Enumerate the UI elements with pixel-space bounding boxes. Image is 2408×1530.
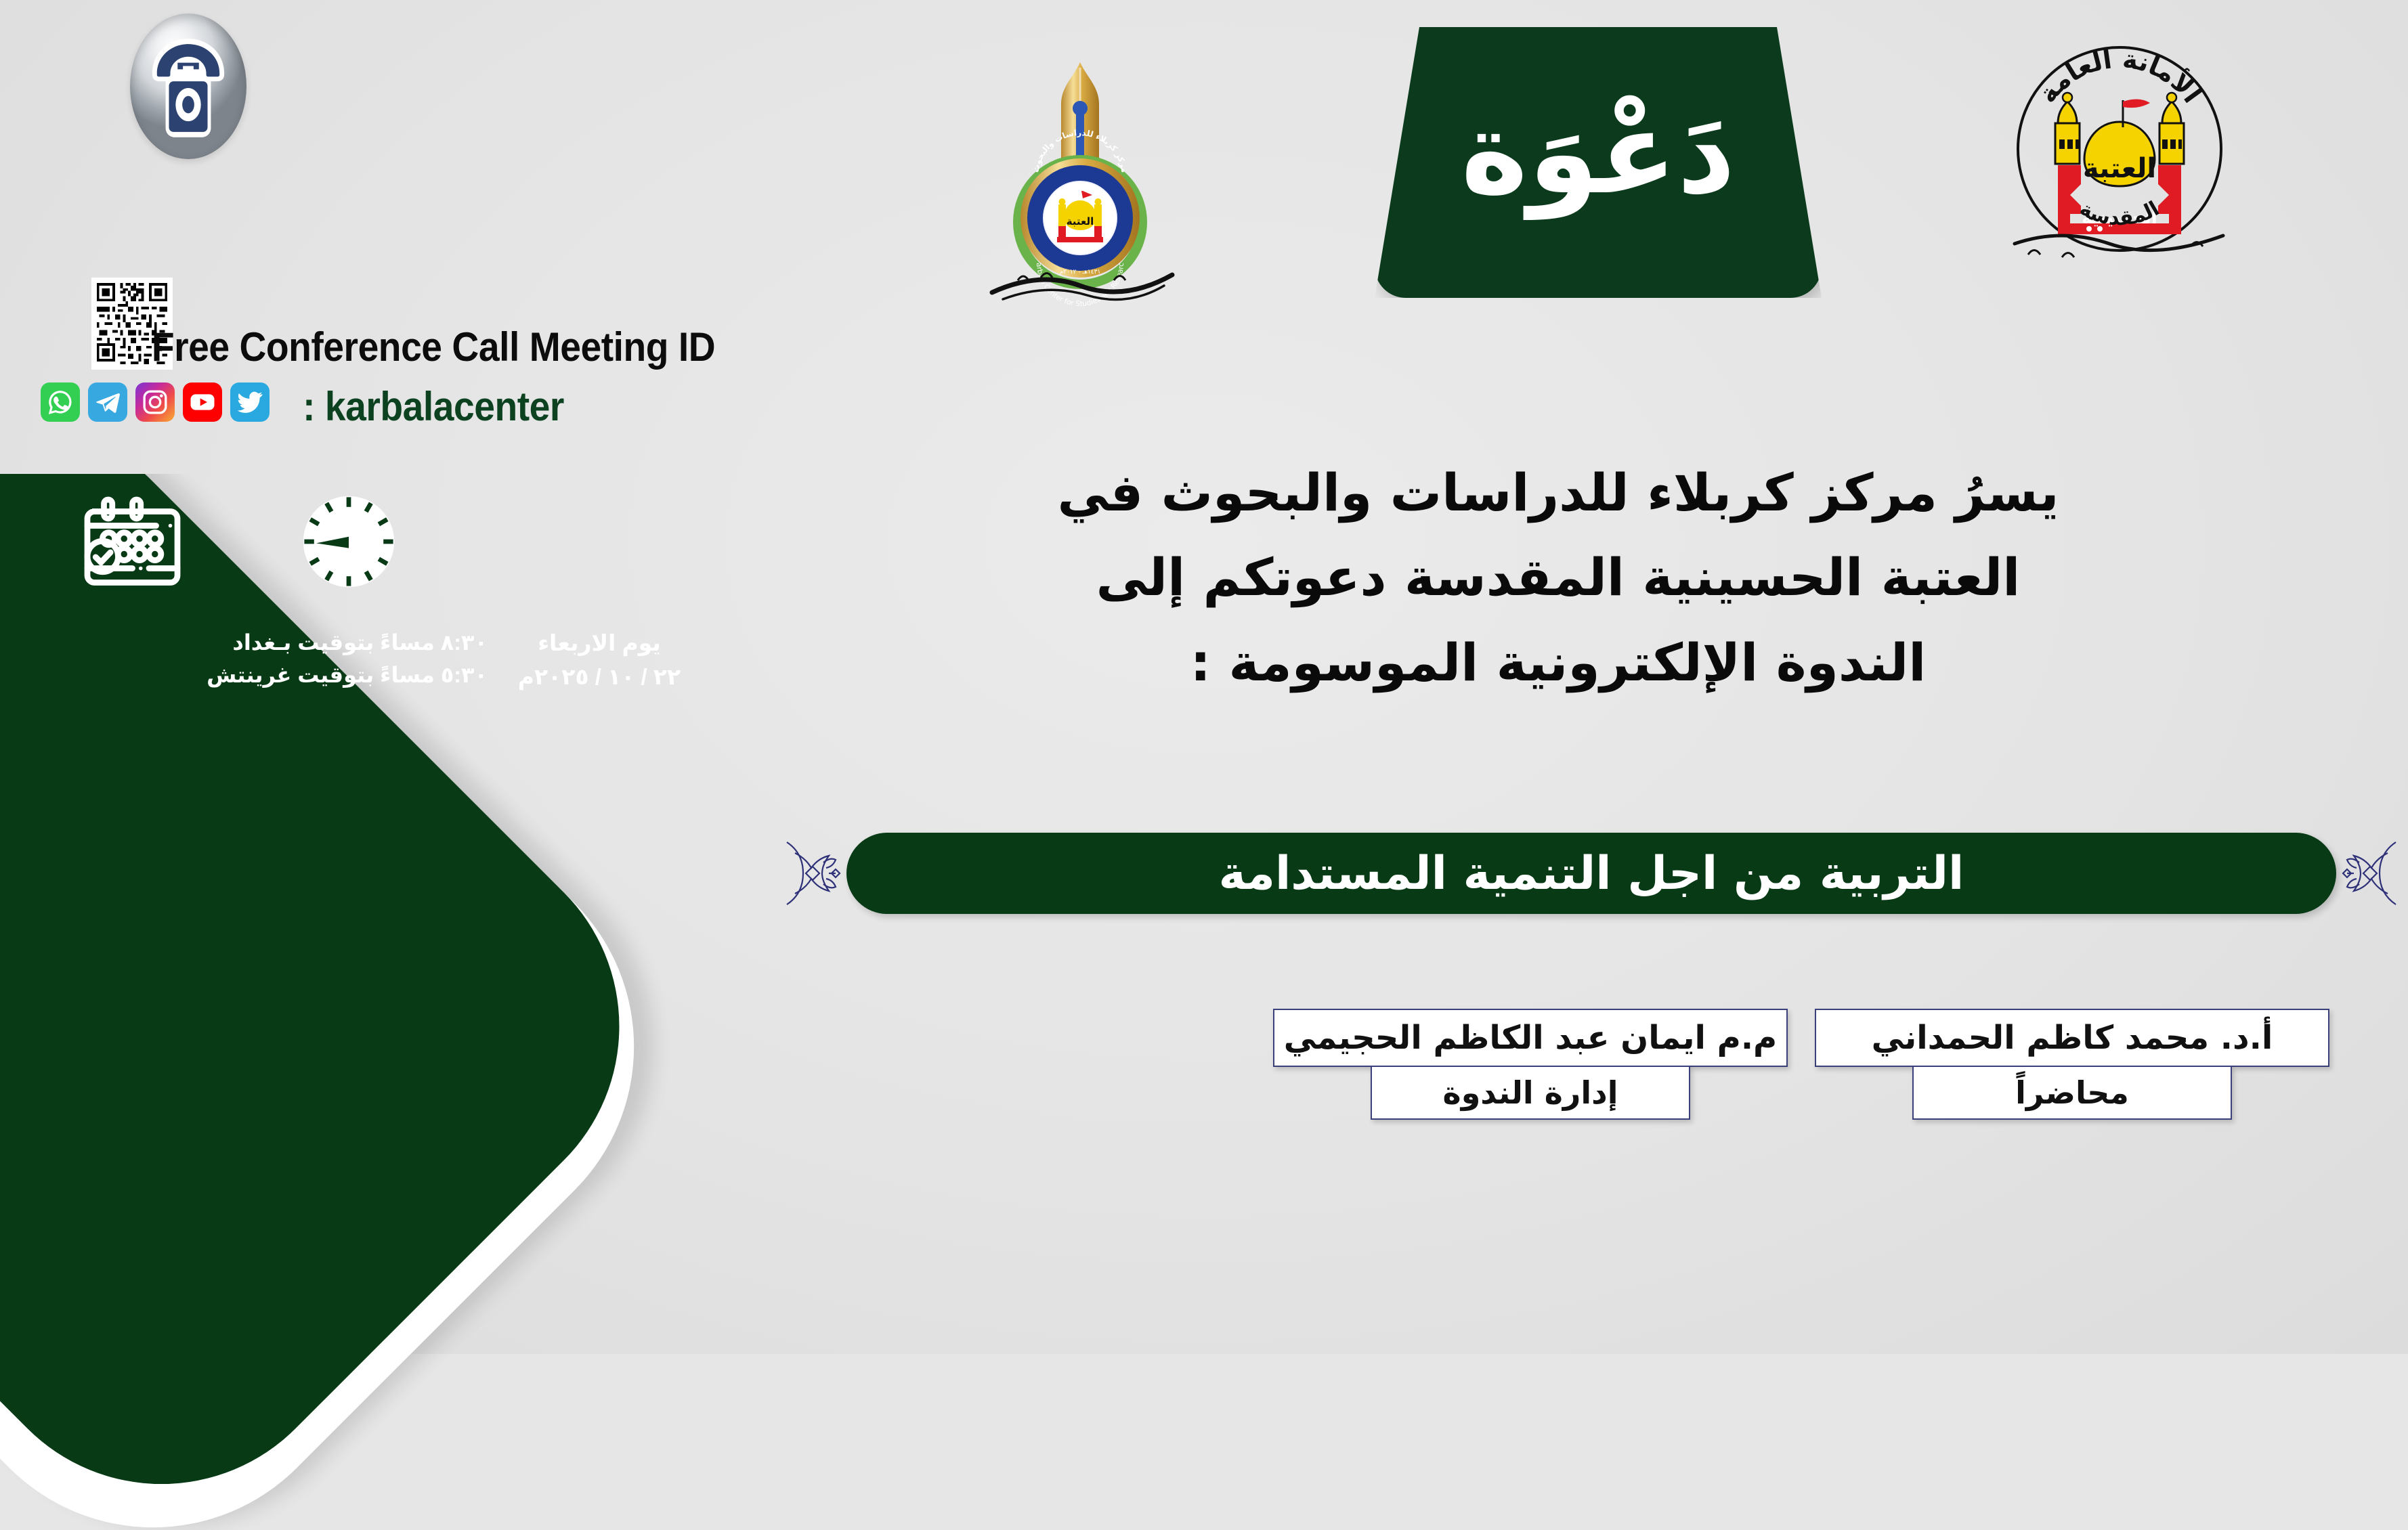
- intro-line-1: يسرُ مركز كربلاء للدراسات والبحوث في: [864, 450, 2252, 535]
- participants: أ.د. محمد كاظم الحمداني محاضراً م.م ايما…: [934, 1009, 2329, 1212]
- seminar-title-banner-row: التربية من اجل التنمية المستدامة: [779, 829, 2404, 917]
- seminar-title-banner: التربية من اجل التنمية المستدامة: [846, 833, 2336, 914]
- participant-lecturer: أ.د. محمد كاظم الحمداني محاضراً: [1815, 1009, 2329, 1212]
- calendar-check-icon: [73, 481, 192, 599]
- intro-line-2: العتبة الحسينية المقدسة دعوتكم إلى: [864, 535, 2252, 619]
- free-conference-call-phone-icon: [130, 14, 246, 159]
- imam-hussain-holy-shrine-logo: العتبة الحسينية الأمانة العامة المقدسة: [1987, 20, 2252, 284]
- moderator-name: م.م ايمان عبد الكاظم الحجيمي: [1273, 1009, 1788, 1067]
- event-time-gmt: ٥:٣٠ مساءً بتوقيت غرينتش: [81, 659, 488, 691]
- conference-call-title: Free Conference Call Meeting ID: [53, 324, 813, 370]
- schedule-text: يوم الاربعاء ٢٢ / ١٠ / ٢٠٢٥م ٨:٣٠ مساءً …: [7, 626, 684, 693]
- participant-moderator: م.م ايمان عبد الكاظم الحجيمي إدارة الندو…: [1273, 1009, 1788, 1212]
- clock-icon: [295, 487, 403, 596]
- poster-canvas: يوم الاربعاء ٢٢ / ١٠ / ٢٠٢٥م ٨:٣٠ مساءً …: [0, 0, 2408, 1354]
- invitation-badge: دَعْوَة: [1375, 27, 1822, 298]
- moderator-role: إدارة الندوة: [1371, 1066, 1690, 1120]
- intro-line-3: الندوة الإلكترونية الموسومة :: [864, 620, 2252, 705]
- event-time-baghdad: ٨:٣٠ مساءً بتوقيت بـغداد: [81, 626, 488, 659]
- arabesque-ornament-icon: [779, 833, 846, 914]
- svg-text:العتبة: العتبة: [1067, 215, 1094, 227]
- karbala-center-logo: العتبة مركز كربلاء للدراسات والبحوث Karb…: [979, 47, 1182, 311]
- schedule-icons: [61, 481, 670, 616]
- conference-call-meeting-id: : karbalacenter: [53, 383, 813, 430]
- svg-text:العتبة: العتبة: [2083, 153, 2156, 184]
- event-day: يوم الاربعاء: [515, 626, 684, 660]
- event-date-block: يوم الاربعاء ٢٢ / ١٠ / ٢٠٢٥م: [515, 626, 684, 693]
- svg-text:١٤٣١هـ - ٢٠١٢م: ١٤٣١هـ - ٢٠١٢م: [1060, 269, 1101, 276]
- event-time-block: ٨:٣٠ مساءً بتوقيت بـغداد ٥:٣٠ مساءً بتوق…: [81, 626, 488, 693]
- seminar-title: التربية من اجل التنمية المستدامة: [1219, 847, 1964, 900]
- arabesque-ornament-icon: [2336, 833, 2404, 914]
- intro-paragraph: يسرُ مركز كربلاء للدراسات والبحوث في الع…: [864, 450, 2252, 705]
- lecturer-name: أ.د. محمد كاظم الحمداني: [1815, 1009, 2329, 1067]
- svg-text:الأمانة العامة: الأمانة العامة: [2032, 44, 2207, 108]
- event-date: ٢٢ / ١٠ / ٢٠٢٥م: [515, 660, 684, 694]
- green-info-panel: يوم الاربعاء ٢٢ / ١٠ / ٢٠٢٥م ٨:٣٠ مساءً …: [0, 474, 819, 1530]
- invitation-badge-label: دَعْوَة: [1375, 27, 1822, 298]
- lecturer-role: محاضراً: [1912, 1066, 2231, 1120]
